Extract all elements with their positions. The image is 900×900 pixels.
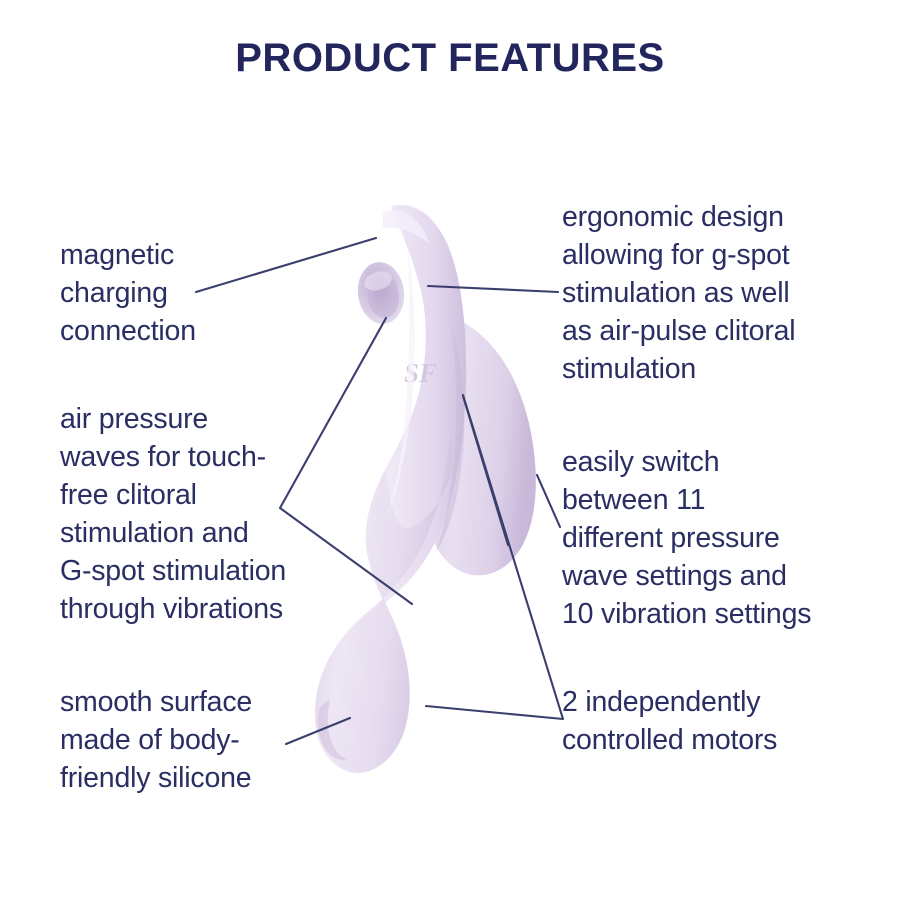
callout-line: friendly silicone — [60, 759, 252, 797]
callout-line: ergonomic design — [562, 198, 795, 236]
callout-line: stimulation and — [60, 514, 286, 552]
callout-line: magnetic — [60, 236, 196, 274]
product-features-infographic: PRODUCT FEATURES — [0, 0, 900, 900]
callout-line: 2 independently — [562, 683, 777, 721]
callout-controlled-motors: 2 independently controlled motors — [562, 683, 777, 759]
callout-line: waves for touch- — [60, 438, 286, 476]
callout-line: air pressure — [60, 400, 286, 438]
callout-line: G-spot stimulation — [60, 552, 286, 590]
callout-line: free clitoral — [60, 476, 286, 514]
callout-pressure-wave-settings: easily switch between 11 different press… — [562, 443, 811, 633]
callout-magnetic-charging: magnetic charging connection — [60, 236, 196, 350]
callout-line: different pressure — [562, 519, 811, 557]
callout-line: as air-pulse clitoral — [562, 312, 795, 350]
callout-line: 10 vibration settings — [562, 595, 811, 633]
callout-ergonomic-design: ergonomic design allowing for g-spot sti… — [562, 198, 795, 388]
callout-line: made of body- — [60, 721, 252, 759]
callout-smooth-surface: smooth surface made of body- friendly si… — [60, 683, 252, 797]
callout-air-pressure-waves: air pressure waves for touch- free clito… — [60, 400, 286, 628]
callout-line: charging — [60, 274, 196, 312]
callout-line: easily switch — [562, 443, 811, 481]
callout-line: smooth surface — [60, 683, 252, 721]
callout-line: stimulation as well — [562, 274, 795, 312]
callout-line: wave settings and — [562, 557, 811, 595]
callout-line: connection — [60, 312, 196, 350]
callout-line: stimulation — [562, 350, 795, 388]
callout-line: through vibrations — [60, 590, 286, 628]
callout-line: allowing for g-spot — [562, 236, 795, 274]
callout-line: between 11 — [562, 481, 811, 519]
callout-line: controlled motors — [562, 721, 777, 759]
